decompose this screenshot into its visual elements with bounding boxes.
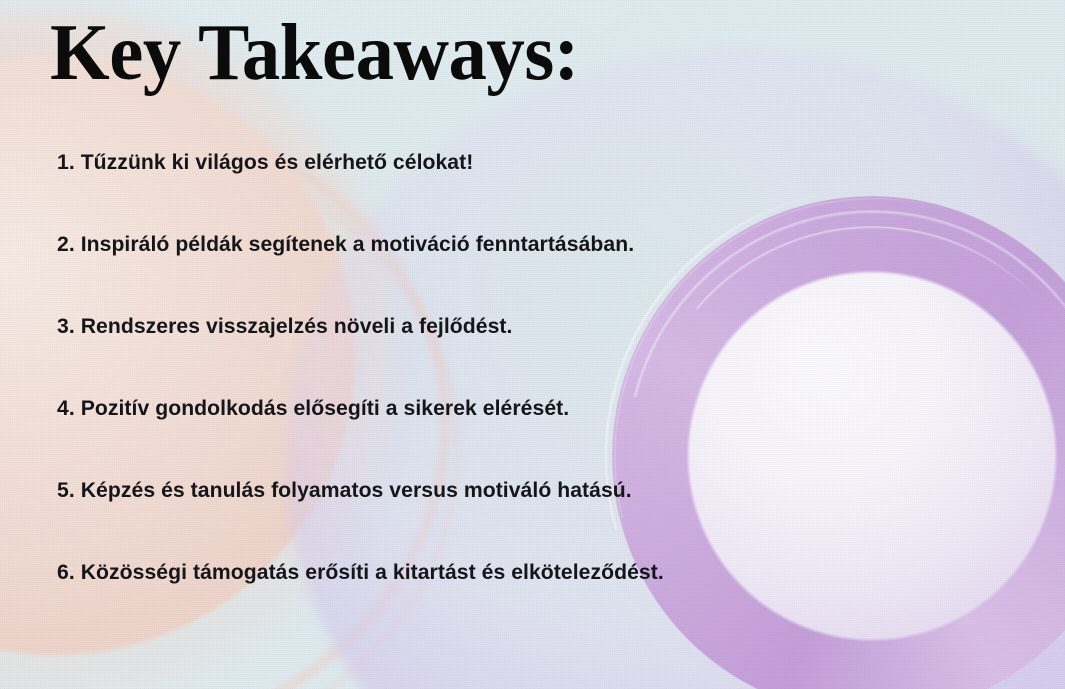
slide-canvas: Key Takeaways: 1. Tűzzünk ki világos és … — [0, 0, 1065, 689]
list-item: 2. Inspiráló példák segítenek a motiváci… — [57, 234, 1003, 256]
list-item: 3. Rendszeres visszajelzés növeli a fejl… — [57, 316, 1003, 338]
slide-content: Key Takeaways: 1. Tűzzünk ki világos és … — [0, 0, 1065, 689]
takeaways-list: 1. Tűzzünk ki világos és elérhető céloka… — [57, 152, 1017, 584]
page-title: Key Takeaways: — [50, 13, 579, 93]
list-item: 6. Közösségi támogatás erősíti a kitartá… — [57, 562, 1003, 584]
list-item: 5. Képzés és tanulás folyamatos versus m… — [57, 480, 1003, 502]
list-item: 4. Pozitív gondolkodás elősegíti a siker… — [57, 398, 1003, 420]
list-item: 1. Tűzzünk ki világos és elérhető céloka… — [57, 152, 1003, 174]
